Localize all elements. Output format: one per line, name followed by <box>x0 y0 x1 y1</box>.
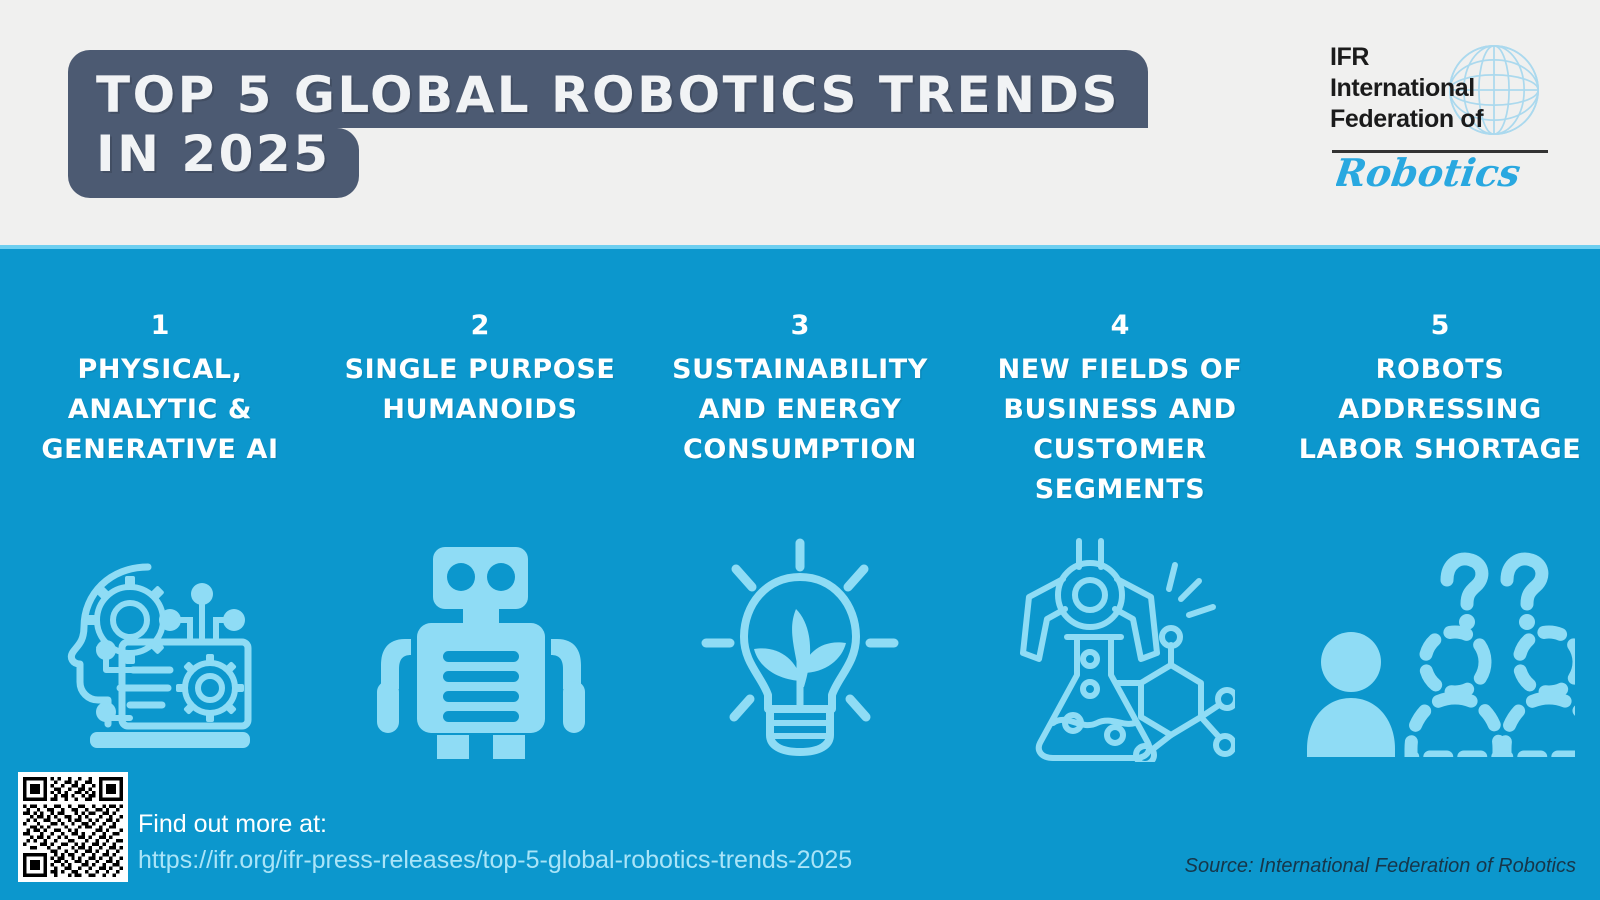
find-out-more-label: Find out more at: <box>138 806 852 842</box>
trend-icon-cell-5 <box>1280 524 1600 774</box>
trend-column-2: 2 SINGLE PURPOSE HUMANOIDS <box>320 309 640 559</box>
trend-icons <box>0 524 1600 774</box>
trend-column-1: 1 PHYSICAL, ANALYTIC & GENERATIVE AI <box>0 309 320 559</box>
ai-brain-laptop-icon <box>50 542 270 757</box>
ifr-logo: IFR International Federation of Robotics <box>1330 32 1560 187</box>
trend-number: 1 <box>16 309 304 343</box>
trends-panel: 1 PHYSICAL, ANALYTIC & GENERATIVE AI 2 S… <box>0 245 1600 900</box>
logo-text: IFR International Federation of <box>1330 42 1515 135</box>
lightbulb-plant-icon <box>700 537 900 762</box>
logo-line-3: Federation of <box>1330 104 1515 135</box>
people-question-marks-icon <box>1305 542 1575 757</box>
qr-code[interactable] <box>18 772 128 882</box>
qr-code-graphic <box>23 777 123 877</box>
trend-headings: 1 PHYSICAL, ANALYTIC & GENERATIVE AI 2 S… <box>0 309 1600 559</box>
trend-title: ROBOTS ADDRESSING LABOR SHORTAGE <box>1296 350 1584 470</box>
logo-script-robotics: Robotics <box>1336 150 1556 196</box>
page-title-line-2: IN 2025 <box>68 128 359 198</box>
find-out-more-block: Find out more at: https://ifr.org/ifr-pr… <box>138 806 852 878</box>
footer: Find out more at: https://ifr.org/ifr-pr… <box>0 760 1600 900</box>
trend-icon-cell-1 <box>0 524 320 774</box>
press-release-url[interactable]: https://ifr.org/ifr-press-releases/top-5… <box>138 842 852 878</box>
trend-number: 5 <box>1296 309 1584 343</box>
source-credit: Source: International Federation of Robo… <box>1185 855 1576 878</box>
trend-column-3: 3 SUSTAINABILITY AND ENERGY CONSUMPTION <box>640 309 960 559</box>
robot-arm-flask-molecule-icon <box>1005 537 1235 762</box>
trend-icon-cell-2 <box>320 524 640 774</box>
trend-column-5: 5 ROBOTS ADDRESSING LABOR SHORTAGE <box>1280 309 1600 559</box>
humanoid-robot-icon <box>375 539 585 759</box>
trend-number: 4 <box>976 309 1264 343</box>
trend-title: NEW FIELDS OF BUSINESS AND CUSTOMER SEGM… <box>976 350 1264 510</box>
trend-icon-cell-3 <box>640 524 960 774</box>
logo-abbr: IFR <box>1330 42 1515 73</box>
trend-column-4: 4 NEW FIELDS OF BUSINESS AND CUSTOMER SE… <box>960 309 1280 559</box>
trend-title: SUSTAINABILITY AND ENERGY CONSUMPTION <box>656 350 944 470</box>
trend-title: SINGLE PURPOSE HUMANOIDS <box>336 350 624 430</box>
header: TOP 5 GLOBAL ROBOTICS TRENDS IN 2025 IFR… <box>0 0 1600 245</box>
trend-number: 3 <box>656 309 944 343</box>
trend-icon-cell-4 <box>960 524 1280 774</box>
page-title-line-1: TOP 5 GLOBAL ROBOTICS TRENDS <box>68 50 1148 128</box>
svg-text:Robotics: Robotics <box>1336 151 1523 196</box>
trend-title: PHYSICAL, ANALYTIC & GENERATIVE AI <box>16 350 304 470</box>
trend-number: 2 <box>336 309 624 343</box>
page-title: TOP 5 GLOBAL ROBOTICS TRENDS IN 2025 <box>68 50 1158 198</box>
logo-line-2: International <box>1330 73 1515 104</box>
